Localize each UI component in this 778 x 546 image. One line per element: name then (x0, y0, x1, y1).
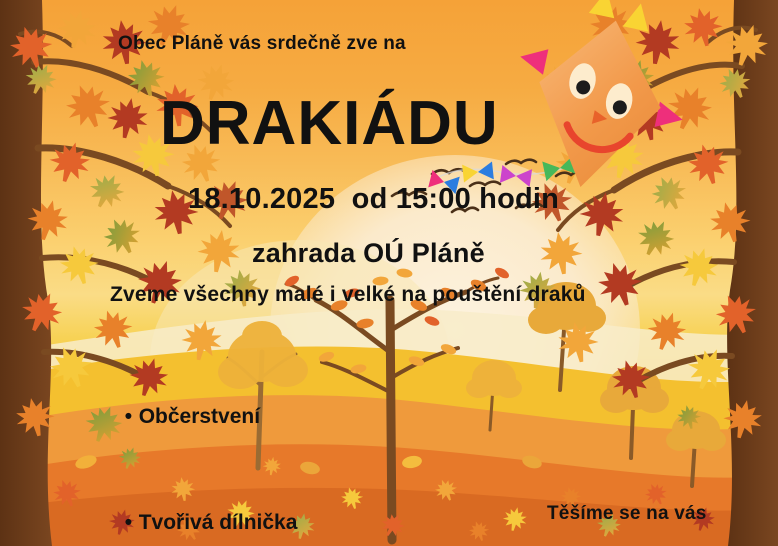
program-list: •Občerstvení •Tvořivá dílnička •Ohniště … (78, 364, 440, 546)
list-item: •Občerstvení (78, 364, 440, 470)
bullet-marker: • (125, 399, 139, 434)
audience-line: Zveme všechny malé i velké na pouštění d… (110, 283, 586, 307)
page-title: DRAKIÁDU (160, 88, 499, 159)
bullet-marker: • (125, 505, 139, 540)
closing-line: Těšíme se na vás (547, 503, 707, 525)
list-item-label: Občerstvení (139, 405, 260, 428)
list-item-label: Tvořivá dílnička (139, 511, 298, 534)
list-item: •Tvořivá dílnička (78, 470, 440, 546)
drakiada-poster: Obec Pláně vás srdečně zve na DRAKIÁDU 1… (0, 0, 778, 546)
invitation-line: Obec Pláně vás srdečně zve na (118, 33, 406, 55)
event-location: zahrada OÚ Pláně (252, 238, 485, 269)
poster-text: Obec Pláně vás srdečně zve na DRAKIÁDU 1… (0, 0, 778, 546)
event-date-time: 18.10.2025 od 15:00 hodin (188, 183, 559, 216)
